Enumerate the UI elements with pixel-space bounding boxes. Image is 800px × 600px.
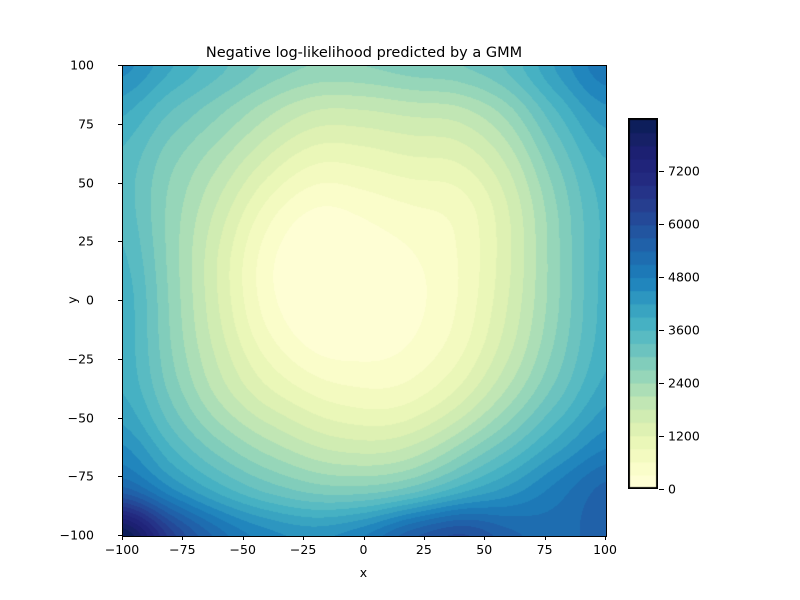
x-tick-mark <box>182 536 183 540</box>
x-tick-label: 100 <box>593 542 617 557</box>
y-axis-label: y <box>65 296 80 303</box>
colorbar-tick-label: 6000 <box>668 217 700 232</box>
colorbar-tick-mark <box>659 489 664 490</box>
colorbar-tick-label: 4800 <box>668 270 700 285</box>
y-tick-mark <box>118 418 122 419</box>
x-tick-mark <box>605 536 606 540</box>
y-tick-label: 100 <box>70 58 94 73</box>
y-tick-label: −25 <box>68 351 94 366</box>
x-tick-mark <box>303 536 304 540</box>
y-tick-mark <box>118 241 122 242</box>
y-tick-label: −50 <box>68 410 94 425</box>
y-tick-mark <box>118 65 122 66</box>
y-tick-label: −100 <box>60 528 94 543</box>
x-tick-mark <box>424 536 425 540</box>
y-tick-label: −75 <box>68 469 94 484</box>
y-tick-mark <box>118 124 122 125</box>
colorbar-tick-mark <box>659 224 664 225</box>
colorbar-tick-label: 1200 <box>668 429 700 444</box>
x-tick-mark <box>364 536 365 540</box>
colorbar-gradient <box>628 118 658 489</box>
x-tick-label: 50 <box>476 542 492 557</box>
y-tick-label: 25 <box>78 234 94 249</box>
x-tick-label: −75 <box>169 542 195 557</box>
contour-plot-axes <box>122 65 607 537</box>
colorbar-tick-label: 2400 <box>668 376 700 391</box>
colorbar-tick-label: 7200 <box>668 164 700 179</box>
y-tick-mark <box>118 359 122 360</box>
x-tick-mark <box>243 536 244 540</box>
colorbar-tick-mark <box>659 436 664 437</box>
x-tick-label: −25 <box>290 542 316 557</box>
x-tick-mark <box>484 536 485 540</box>
colorbar <box>628 118 658 489</box>
matplotlib-figure: Negative log-likelihood predicted by a G… <box>0 0 800 600</box>
x-tick-label: −100 <box>105 542 139 557</box>
x-tick-mark <box>122 536 123 540</box>
colorbar-tick-mark <box>659 330 664 331</box>
y-tick-mark <box>118 476 122 477</box>
y-tick-mark <box>118 535 122 536</box>
x-tick-label: −50 <box>230 542 256 557</box>
contour-field <box>123 66 606 536</box>
colorbar-tick-mark <box>659 277 664 278</box>
colorbar-tick-mark <box>659 171 664 172</box>
y-tick-mark <box>118 183 122 184</box>
colorbar-tick-label: 3600 <box>668 323 700 338</box>
y-tick-label: 0 <box>86 293 94 308</box>
colorbar-tick-label: 0 <box>668 482 676 497</box>
x-tick-label: 75 <box>537 542 553 557</box>
x-tick-mark <box>545 536 546 540</box>
x-tick-label: 0 <box>360 542 368 557</box>
colorbar-tick-mark <box>659 383 664 384</box>
x-axis-label: x <box>122 565 605 580</box>
y-tick-mark <box>118 300 122 301</box>
x-tick-label: 25 <box>416 542 432 557</box>
y-tick-label: 50 <box>78 175 94 190</box>
page-title: Negative log-likelihood predicted by a G… <box>122 44 606 62</box>
y-tick-label: 75 <box>78 116 94 131</box>
